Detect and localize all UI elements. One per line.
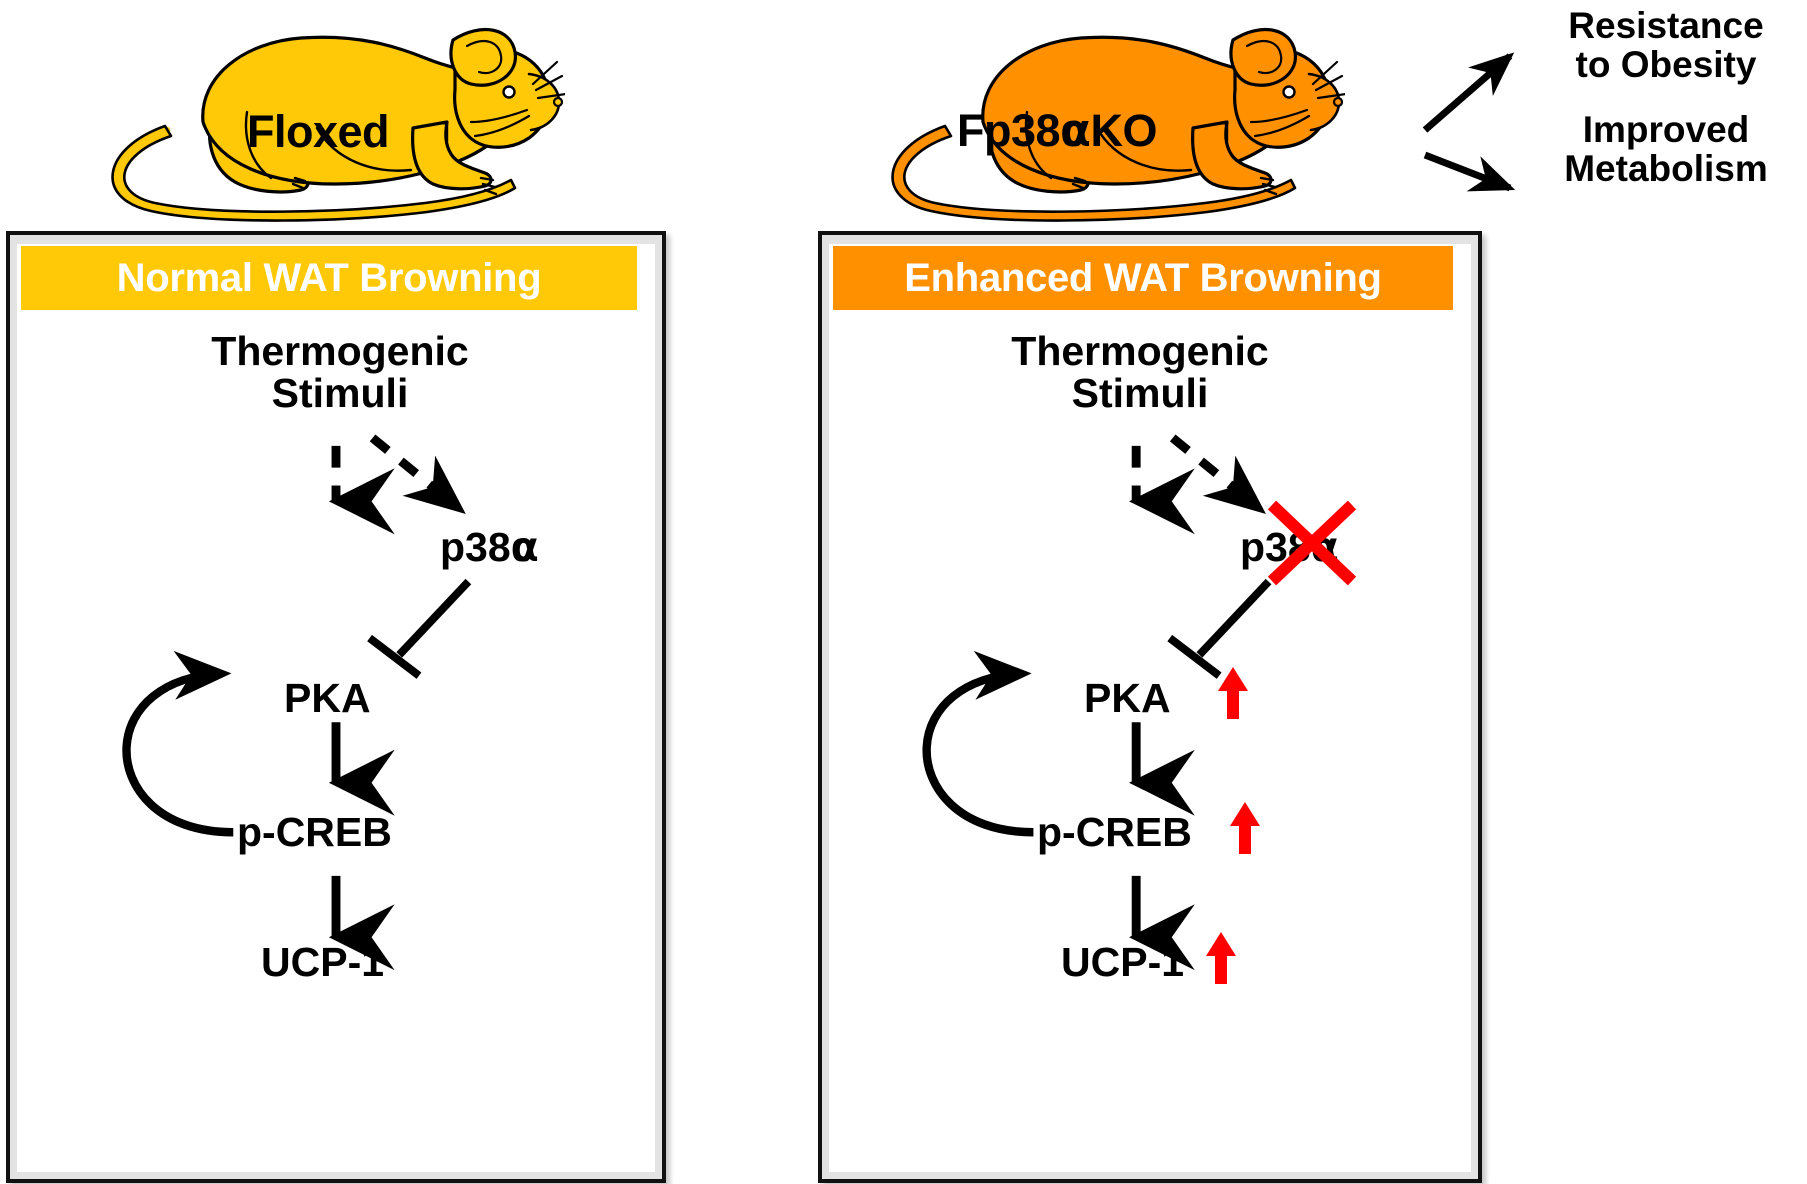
resistance-to-obesity-label: Resistance to Obesity bbox=[1530, 6, 1802, 84]
node-thermogenic-stimuli: Thermogenic Stimuli bbox=[910, 330, 1370, 414]
ko-label-prefix: Fp38 bbox=[957, 105, 1060, 156]
creb-upregulated-arrow-icon bbox=[1228, 800, 1262, 856]
edge-creb-feedback-to-pka bbox=[927, 674, 1034, 833]
ucp1-upregulated-arrow-icon bbox=[1204, 930, 1238, 986]
node-p38alpha-prefix: p38 bbox=[1240, 524, 1311, 570]
edge-p38-inhibits-pka bbox=[399, 582, 468, 655]
node-pka: PKA bbox=[284, 677, 371, 719]
left-panel-header: Normal WAT Browning bbox=[21, 246, 637, 310]
node-thermogenic-stimuli: Thermogenic Stimuli bbox=[110, 330, 570, 414]
node-pka: PKA bbox=[1084, 677, 1171, 719]
node-ucp-1: UCP-1 bbox=[261, 941, 384, 983]
arrow-to-metabolism bbox=[1425, 155, 1510, 188]
node-p38alpha-prefix: p38 bbox=[440, 524, 511, 570]
figure-canvas: Floxed bbox=[0, 0, 1807, 1184]
ko-mouse: Fp38αKO bbox=[875, 18, 1345, 223]
node-p-creb: p-CREB bbox=[237, 811, 392, 853]
right-panel-header: Enhanced WAT Browning bbox=[833, 246, 1453, 310]
node-p38alpha-greek: α bbox=[511, 523, 539, 571]
inhibition-bar-p38 bbox=[1170, 638, 1219, 676]
ko-label-suffix: KO bbox=[1090, 105, 1157, 156]
left-panel-connectors: PKA --> p38a --> p-CREB --> UCP-1 --> bbox=[10, 321, 662, 1179]
improved-metabolism-label: Improved Metabolism bbox=[1530, 110, 1802, 188]
edge-creb-feedback-to-pka bbox=[126, 674, 233, 833]
left-panel-body: PKA --> p38a --> p-CREB --> UCP-1 --> Th… bbox=[10, 321, 662, 1179]
node-p-creb: p-CREB bbox=[1037, 811, 1192, 853]
arrow-to-resistance bbox=[1425, 56, 1510, 130]
floxed-mouse: Floxed bbox=[95, 18, 565, 223]
node-p38alpha-greek: α bbox=[1311, 523, 1339, 571]
ko-label-greek: α bbox=[1060, 104, 1090, 157]
ko-mouse-label: Fp38αKO bbox=[957, 104, 1157, 157]
floxed-mouse-label: Floxed bbox=[247, 106, 389, 158]
right-panel-connectors bbox=[822, 321, 1478, 1179]
right-panel: Enhanced WAT Browning bbox=[818, 231, 1482, 1183]
edge-stimuli-to-p38 bbox=[1173, 438, 1258, 507]
pka-upregulated-arrow-icon bbox=[1216, 665, 1250, 721]
left-panel: Normal WAT Browning PKA --> p38a - bbox=[6, 231, 666, 1183]
edge-stimuli-to-p38 bbox=[373, 438, 458, 507]
node-p38alpha: p38α bbox=[440, 526, 539, 568]
right-panel-body: Thermogenic Stimuli p38α PKA p-CREB UCP-… bbox=[822, 321, 1478, 1179]
node-ucp-1: UCP-1 bbox=[1061, 941, 1184, 983]
node-p38alpha: p38α bbox=[1240, 526, 1339, 568]
edge-p38-inhibits-pka bbox=[1199, 582, 1268, 655]
inhibition-bar-p38 bbox=[370, 638, 419, 676]
